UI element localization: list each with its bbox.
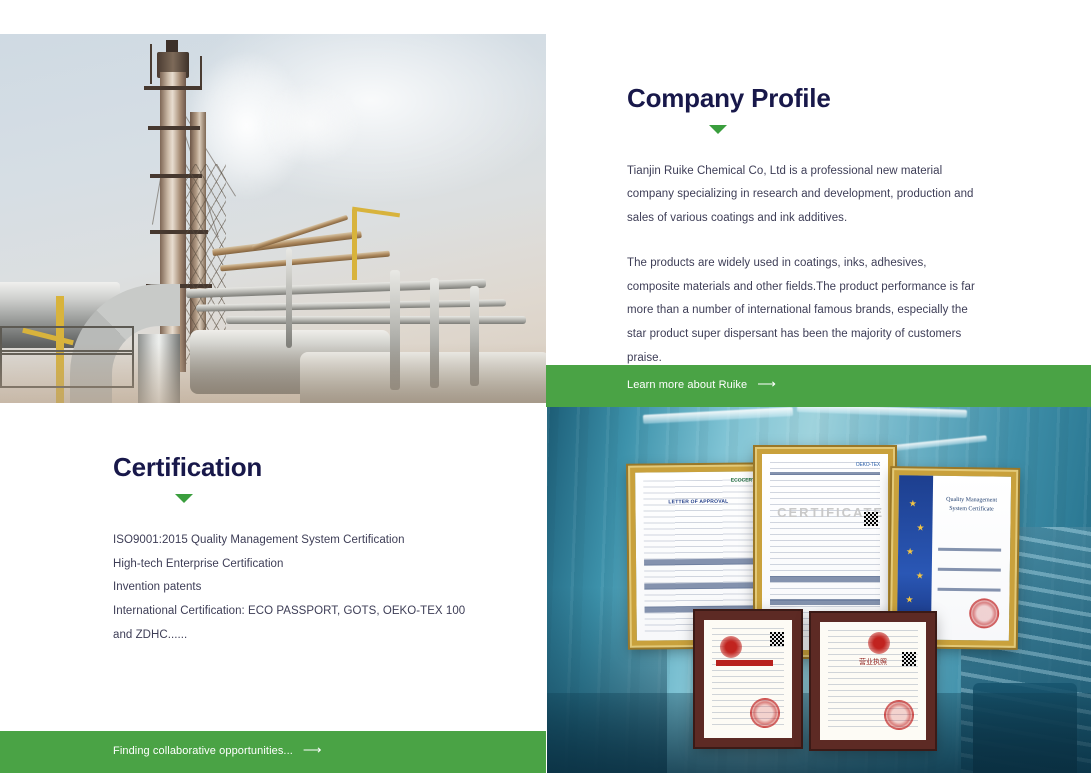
document-band [770, 472, 881, 475]
yellow-handrail [352, 210, 357, 280]
document-band [938, 548, 1001, 552]
certificate-heading: Quality Management System Certificate [939, 495, 1004, 514]
document-band [938, 587, 1001, 591]
antenna [150, 44, 152, 84]
down-triangle-icon [175, 494, 193, 503]
collaborate-cta-bar[interactable]: Finding collaborative opportunities... ⟶ [0, 731, 546, 773]
company-profile-section: Company Profile Tianjin Ruike Chemical C… [627, 84, 979, 370]
seal-icon [884, 700, 914, 730]
star-icon: ★ [905, 595, 913, 604]
learn-more-cta-bar[interactable]: Learn more about Ruike ⟶ [546, 365, 1091, 407]
list-item: International Certification: ECO PASSPOR… [113, 600, 473, 648]
certificate-frame-license-left [695, 611, 801, 747]
license-title: 营业执照 [848, 657, 899, 667]
certification-list: ISO9001:2015 Quality Management System C… [113, 529, 473, 649]
qr-code [902, 652, 916, 666]
profile-paragraph: Tianjin Ruike Chemical Co, Ltd is a prof… [627, 160, 979, 231]
smoke-plume-secondary [235, 64, 385, 184]
qr-code [864, 512, 878, 526]
certification-title: Certification [113, 453, 473, 482]
list-item: ISO9001:2015 Quality Management System C… [113, 529, 473, 553]
star-icon: ★ [916, 523, 924, 532]
learn-more-label: Learn more about Ruike [627, 379, 747, 391]
long-right-arrow-icon: ⟶ [303, 743, 322, 756]
collaborate-label: Finding collaborative opportunities... [113, 745, 293, 757]
list-item: Invention patents [113, 576, 473, 600]
process-pipe [226, 316, 526, 324]
ecocert-badge: ECOCERT [731, 477, 756, 483]
collaborate-cta[interactable]: Finding collaborative opportunities... ⟶ [113, 744, 322, 757]
national-emblem-icon [868, 632, 890, 654]
star-icon: ★ [906, 547, 914, 556]
oekotex-badge: OEKO-TEX [856, 462, 880, 468]
antenna [200, 56, 202, 90]
profile-paragraph: The products are widely used in coatings… [627, 252, 979, 370]
document-band [644, 559, 755, 566]
column-platform [148, 126, 200, 130]
riser-pipe [286, 248, 292, 348]
star-icon: ★ [916, 571, 924, 580]
seal-icon [750, 698, 780, 728]
seal-icon [969, 598, 999, 628]
learn-more-cta[interactable]: Learn more about Ruike ⟶ [627, 378, 776, 391]
star-icon: ★ [909, 499, 917, 508]
document-band [644, 582, 755, 589]
qr-code [770, 632, 784, 646]
document-band [770, 599, 881, 605]
certification-section: Certification ISO9001:2015 Quality Manag… [113, 453, 473, 648]
document-band [770, 576, 881, 582]
national-emblem-icon [720, 636, 742, 658]
chemical-plant-photo [0, 34, 546, 403]
ground-haze [0, 343, 546, 403]
page-title: Company Profile [627, 84, 979, 113]
certificate-frame-license-right: 营业执照 [811, 613, 935, 749]
certificate-wall-photo: LETTER OF APPROVAL ECOCERT OEKO-TEX CERT… [547, 407, 1091, 773]
long-right-arrow-icon: ⟶ [757, 377, 776, 390]
list-item: High-tech Enterprise Certification [113, 553, 473, 577]
certificate-heading: LETTER OF APPROVAL [653, 498, 744, 505]
column-platform [144, 86, 202, 90]
brochure-page: Company Profile Tianjin Ruike Chemical C… [0, 0, 1091, 773]
down-triangle-icon [709, 125, 727, 134]
document-band [938, 568, 1001, 572]
license-title [716, 660, 772, 666]
